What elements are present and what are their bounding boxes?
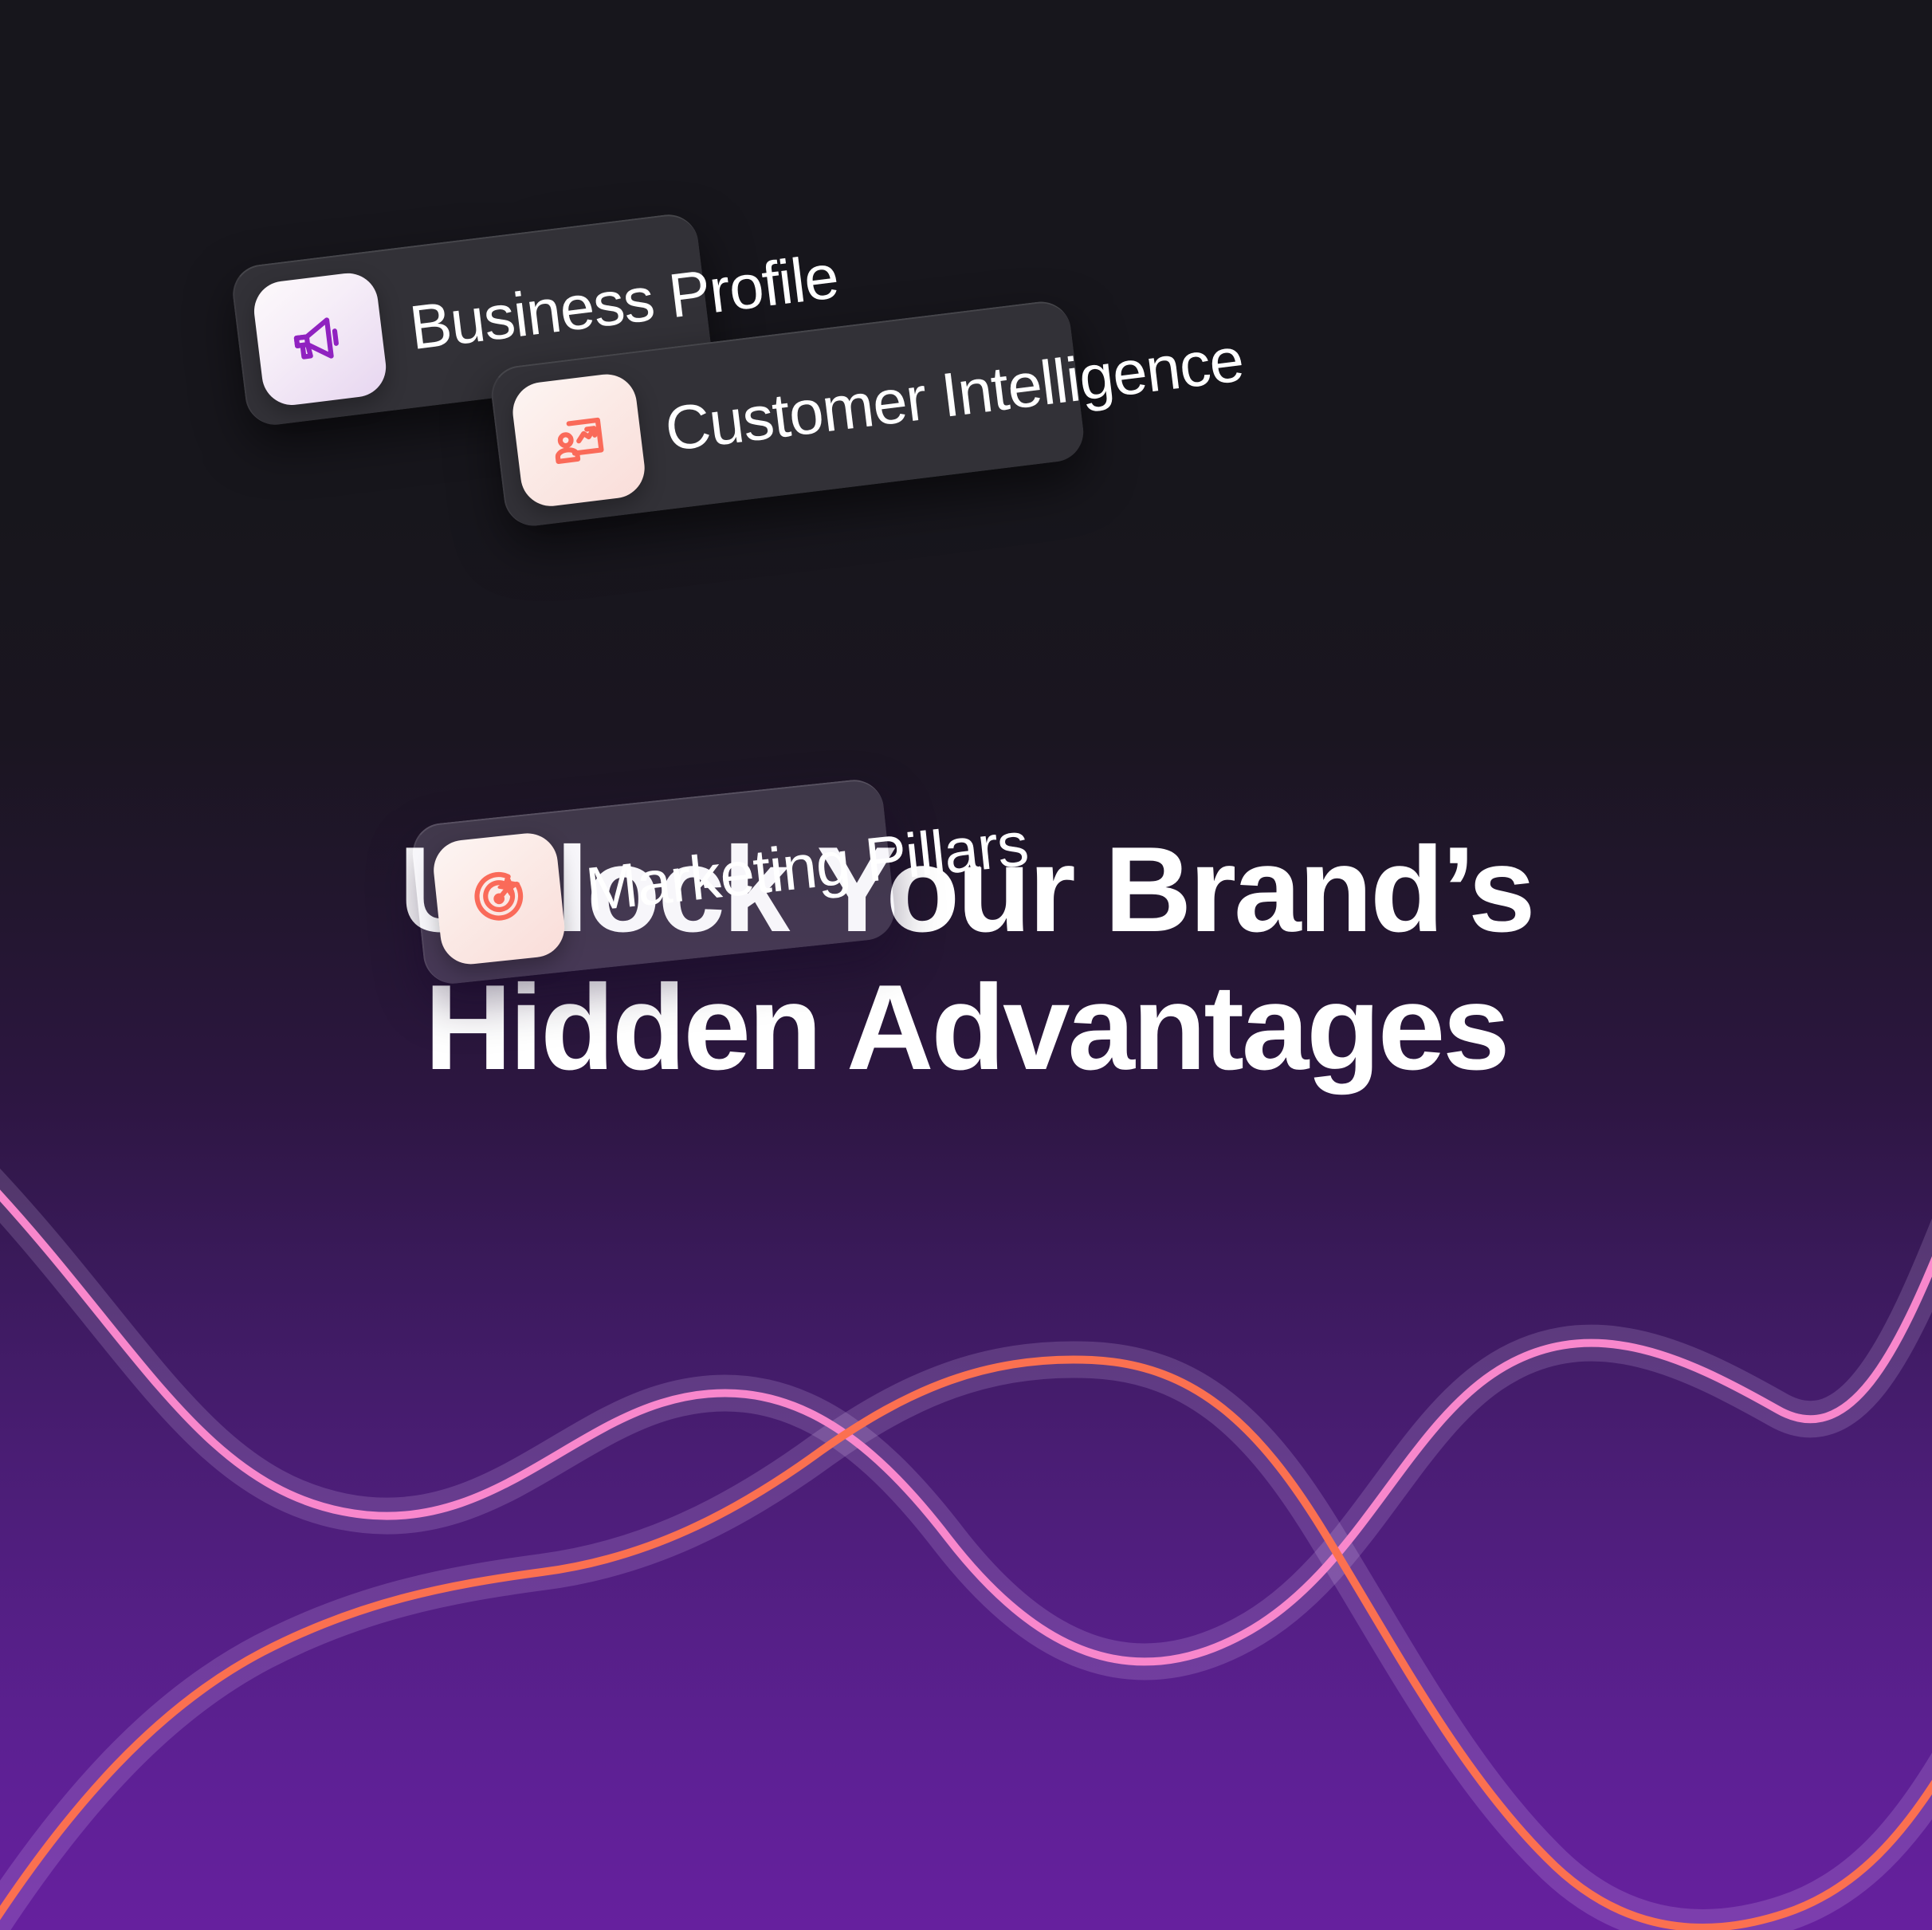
orange-wave-halo: [0, 1359, 1932, 1930]
pink-wave-core: [0, 1178, 1932, 1661]
hero-canvas: Business Profile Customer Intelligence: [0, 0, 1932, 1930]
pink-wave-halo: [0, 1178, 1932, 1661]
target-arrow-icon: [430, 831, 567, 967]
customer-chart-icon: [509, 371, 648, 509]
megaphone-icon: [251, 269, 390, 408]
